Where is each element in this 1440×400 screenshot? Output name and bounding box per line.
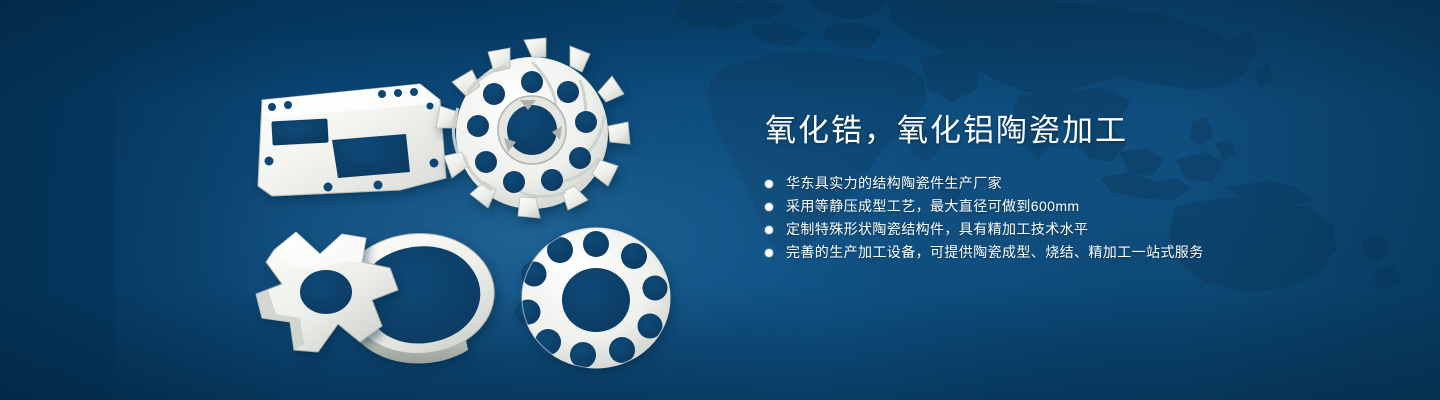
ceramic-impeller-part: [436, 38, 630, 218]
bullet-dot-icon: [765, 226, 773, 234]
list-item: 采用等静压成型工艺，最大直径可做到600mm: [765, 195, 1405, 218]
ceramic-products-image: [0, 0, 720, 400]
promo-banner: 氧化锆，氧化铝陶瓷加工 华东具实力的结构陶瓷件生产厂家 采用等静压成型工艺，最大…: [0, 0, 1440, 400]
page-title: 氧化锆，氧化铝陶瓷加工: [765, 112, 1405, 150]
bullet-dot-icon: [765, 249, 773, 257]
list-item-label: 采用等静压成型工艺，最大直径可做到600mm: [786, 198, 1079, 214]
list-item-label: 华东具实力的结构陶瓷件生产厂家: [786, 175, 1002, 191]
feature-list: 华东具实力的结构陶瓷件生产厂家 采用等静压成型工艺，最大直径可做到600mm 定…: [765, 172, 1405, 264]
list-item-label: 定制特殊形状陶瓷结构件，具有精加工技术水平: [786, 221, 1088, 237]
bullet-dot-icon: [765, 203, 773, 211]
ceramic-plate-part: [258, 84, 446, 196]
list-item-label: 完善的生产加工设备，可提供陶瓷成型、烧结、精加工一站式服务: [786, 244, 1204, 260]
bullet-dot-icon: [765, 180, 773, 188]
banner-copy: 氧化锆，氧化铝陶瓷加工 华东具实力的结构陶瓷件生产厂家 采用等静压成型工艺，最大…: [765, 112, 1405, 264]
list-item: 定制特殊形状陶瓷结构件，具有精加工技术水平: [765, 218, 1405, 241]
ceramic-ring-part: [516, 228, 671, 368]
list-item: 完善的生产加工设备，可提供陶瓷成型、烧结、精加工一站式服务: [765, 241, 1405, 264]
list-item: 华东具实力的结构陶瓷件生产厂家: [765, 172, 1405, 195]
